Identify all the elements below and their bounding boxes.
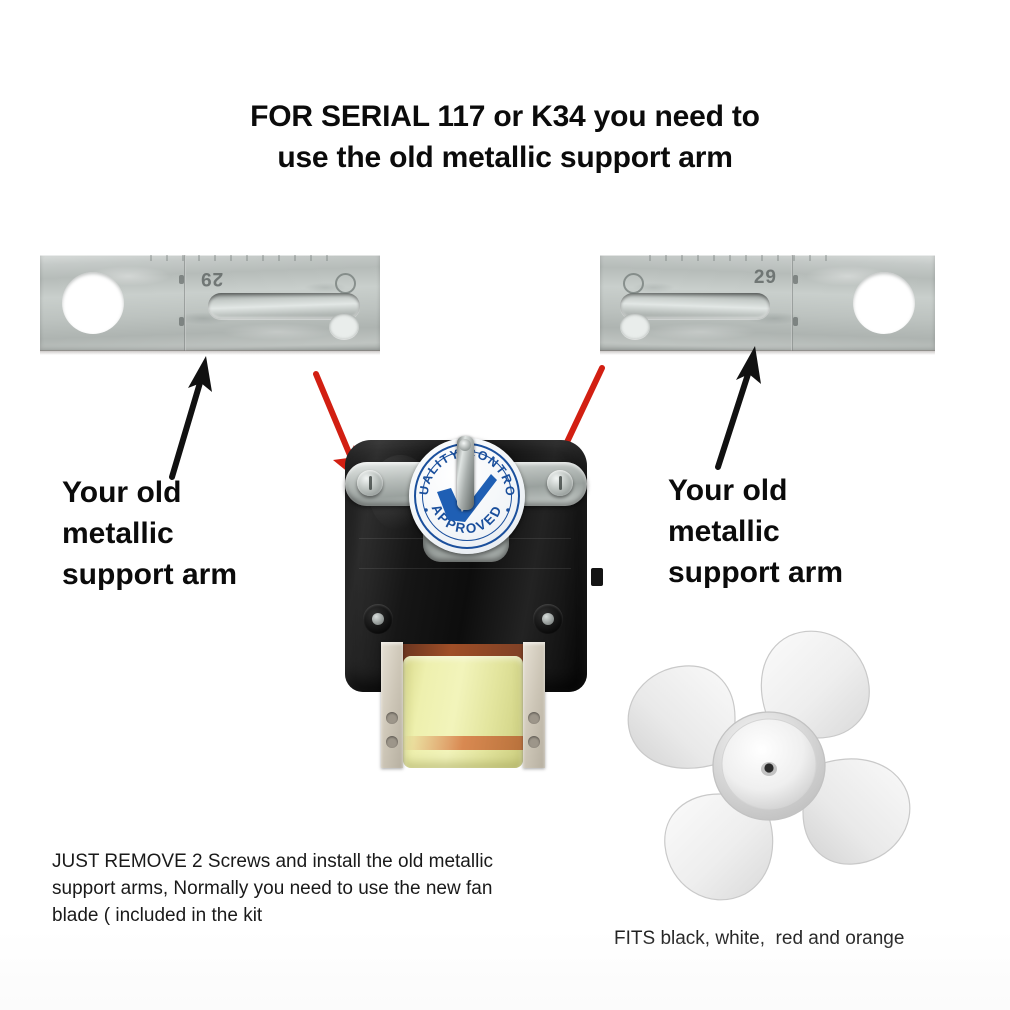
left-support-arm-caption: Your old metallic support arm [62, 472, 302, 595]
fan-motor-photo: QUALITY CONTROL APPROVED [337, 418, 595, 768]
fan-shaft-hole [764, 763, 773, 772]
motor-mount-plate-right [523, 642, 545, 768]
motor-strap-screw-left [357, 470, 383, 496]
motor-strap-screw-right [547, 470, 573, 496]
right-arm-fold-line [791, 255, 793, 351]
right-arm-rivet-bottom [793, 317, 798, 326]
page-title-line-1: FOR SERIAL 117 or K34 you need to [0, 96, 1010, 137]
installation-instructions-text: JUST REMOVE 2 Screws and install the old… [52, 848, 512, 929]
right-arm-slot-hole [620, 313, 650, 339]
motor-coil-insulation-band [403, 736, 523, 750]
left-support-arm-photo: 29 [40, 255, 380, 351]
motor-shaft [457, 436, 474, 510]
left-arm-fold-line [184, 255, 186, 351]
left-caption-line-2: metallic [62, 513, 302, 554]
product-instruction-image: FOR SERIAL 117 or K34 you need to use th… [0, 0, 1010, 1010]
motor-coil-winding [403, 656, 523, 768]
motor-mount-hole [386, 712, 398, 724]
motor-lamination-line [359, 568, 571, 569]
left-arm-rivet-bottom [179, 317, 184, 326]
right-support-arm-photo: 29 [600, 255, 935, 351]
left-arm-mounting-hole [62, 272, 124, 334]
motor-mount-plate-left [381, 642, 403, 768]
left-arm-scribed-circle [335, 273, 356, 294]
page-title: FOR SERIAL 117 or K34 you need to use th… [0, 96, 1010, 178]
motor-mount-hole [528, 712, 540, 724]
right-black-pointer-arrow [700, 342, 780, 472]
motor-bottom-right-screw [533, 604, 563, 634]
left-arm-rivet-top [179, 275, 184, 284]
right-arm-rivet-top [793, 275, 798, 284]
right-support-arm-caption: Your old metallic support arm [668, 470, 918, 593]
motor-mount-hole [386, 736, 398, 748]
right-caption-line-2: metallic [668, 511, 918, 552]
left-arm-slot-hole [329, 313, 359, 339]
motor-bottom-left-screw [363, 604, 393, 634]
fits-colors-caption: FITS black, white, red and orange [614, 928, 904, 950]
right-arm-edge-notches [637, 255, 827, 261]
right-caption-line-1: Your old [668, 470, 918, 511]
left-caption-line-1: Your old [62, 472, 302, 513]
right-arm-scribed-circle [623, 273, 644, 294]
fan-blade-photo [603, 614, 933, 914]
left-black-pointer-arrow [150, 352, 230, 482]
left-arm-stamp-number: 29 [200, 267, 223, 289]
right-arm-stamp-number: 29 [754, 267, 777, 289]
page-title-line-2: use the old metallic support arm [0, 137, 1010, 178]
left-arm-edge-notches [150, 255, 340, 261]
right-caption-line-3: support arm [668, 552, 918, 593]
left-caption-line-3: support arm [62, 554, 302, 595]
motor-terminal-tab [591, 568, 603, 586]
motor-mount-hole [528, 736, 540, 748]
fan-blade-illustration [603, 614, 933, 914]
right-arm-mounting-hole [853, 272, 915, 334]
